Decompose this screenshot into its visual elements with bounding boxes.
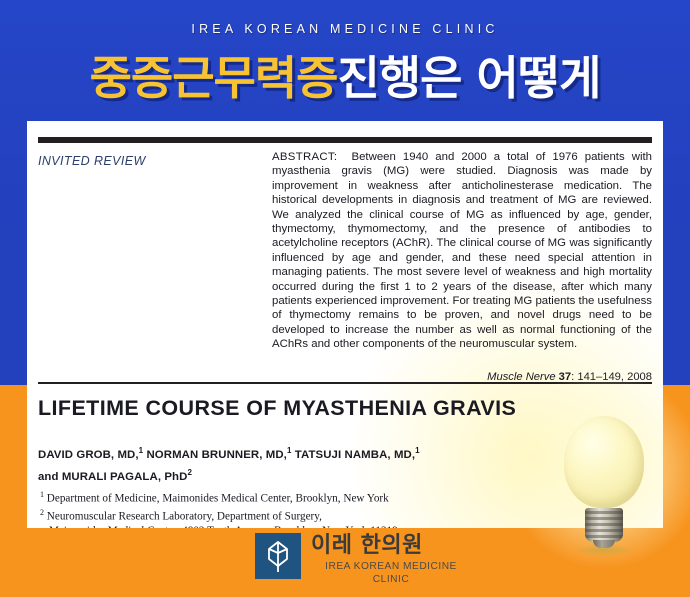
clinic-logo-text: 이레 한의원 IREA KOREAN MEDICINE CLINIC [311,533,471,586]
author-list: DAVID GROB, MD,1 NORMAN BRUNNER, MD,1 TA… [38,442,478,486]
author-namba: TATSUJI NAMBA, MD, [292,449,416,461]
clinic-name-english-line1: IREA KOREAN MEDICINE [311,560,471,573]
author-line-1: DAVID GROB, MD,1 NORMAN BRUNNER, MD,1 TA… [38,449,420,461]
affiliation-item-2: 2 Neuromuscular Research Laboratory, Dep… [40,506,510,524]
lightbulb-screw-base [585,508,623,542]
affiliation-1-text: Department of Medicine, Maimonides Medic… [44,493,389,505]
author-line-2: and MURALI PAGALA, PhD2 [38,471,192,483]
affiliation-list: 1 Department of Medicine, Maimonides Med… [40,488,510,528]
headline-highlight-text: 중증근무력증 [90,51,338,105]
leaf-icon [255,533,301,579]
top-rule-divider [38,137,652,143]
abstract-body: Between 1940 and 2000 a total of 1976 pa… [272,151,652,350]
author-namba-affiliation-marker: 1 [415,446,420,455]
lightbulb-illustration [556,416,652,548]
clinic-name-english: IREA KOREAN MEDICINE CLINIC [311,560,471,586]
headline-rest-text: 진행은 어떻게 [337,51,600,105]
abstract-label: ABSTRACT: [272,151,337,163]
banner-eyebrow-text: IREA KOREAN MEDICINE CLINIC [0,22,690,36]
author-pagala: and MURALI PAGALA, PhD [38,471,187,483]
clinic-name-english-line2: CLINIC [311,573,471,586]
author-pagala-affiliation-marker: 2 [187,468,192,477]
clinic-logo: 이레 한의원 IREA KOREAN MEDICINE CLINIC [255,533,471,586]
invited-review-label: INVITED REVIEW [38,154,146,168]
affiliation-2-text: Neuromuscular Research Laboratory, Depar… [44,511,322,523]
poster-page: IREA KOREAN MEDICINE CLINIC 중증근무력증진행은 어떻… [0,0,690,597]
affiliation-item-1: 1 Department of Medicine, Maimonides Med… [40,488,510,506]
author-grob: DAVID GROB, MD, [38,449,139,461]
author-brunner: NORMAN BRUNNER, MD, [143,449,287,461]
clinic-name-korean: 이레 한의원 [311,534,471,558]
banner-headline: 중증근무력증진행은 어떻게 [0,42,690,108]
affiliation-item-2-continued: Maimonides Medical Center, 4802 Tenth Av… [40,524,510,528]
abstract-paragraph: ABSTRACT: Between 1940 and 2000 a total … [272,150,652,352]
article-title: LIFETIME COURSE OF MYASTHENIA GRAVIS [38,396,516,421]
